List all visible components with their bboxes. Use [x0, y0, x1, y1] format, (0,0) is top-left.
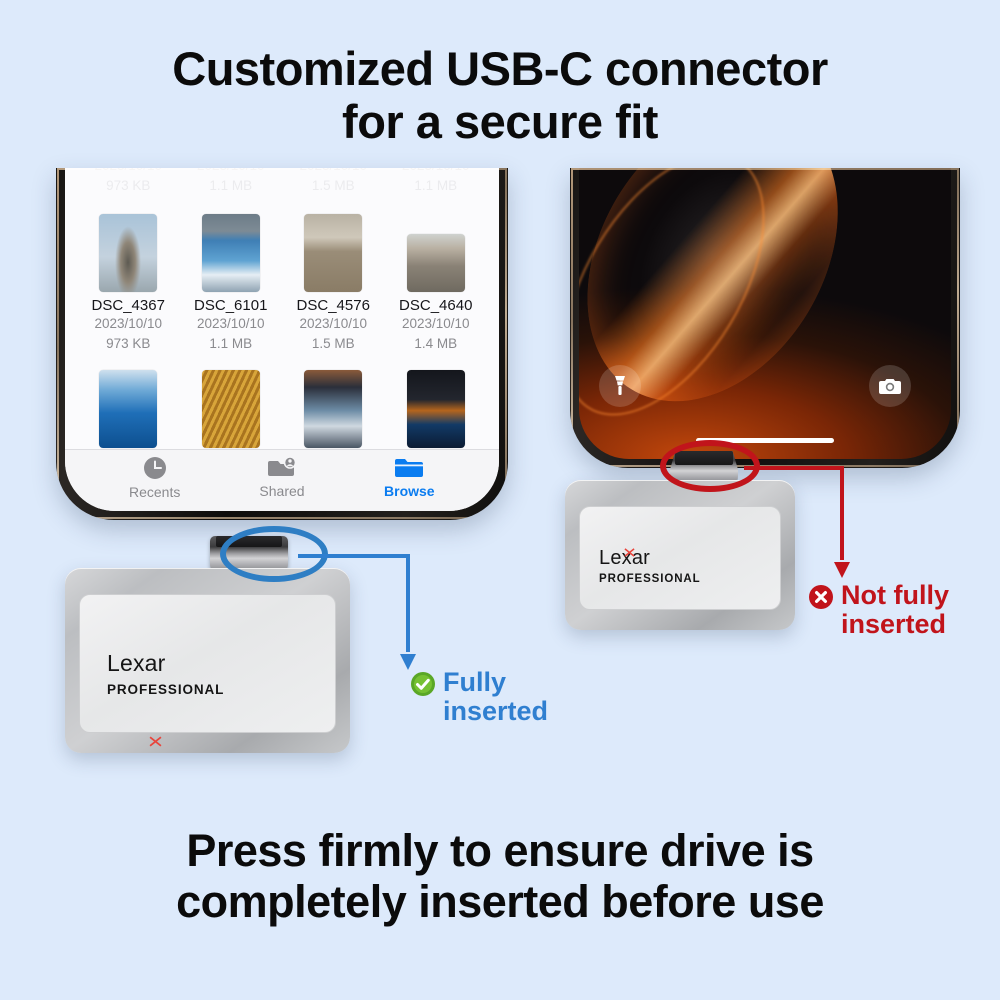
brand-name: Lexar [107, 652, 166, 675]
camera-icon [879, 377, 901, 395]
lexar-brand-right: Lexar PROFESSIONAL [599, 548, 701, 585]
callout-bad-text: Not fully inserted [841, 581, 949, 639]
brand-sub: PROFESSIONAL [599, 573, 701, 585]
headline-line-2: for a secure fit [0, 95, 1000, 148]
flashlight-icon [612, 375, 628, 397]
shared-folder-icon [268, 456, 296, 480]
file-cell[interactable]: 2023/10/10 1.1 MB [387, 168, 486, 195]
callout-good-text: Fully inserted [443, 668, 548, 726]
file-cell[interactable]: 2023/10/10 1.1 MB [182, 168, 281, 195]
file-cell[interactable]: DSC_4640 2023/10/10 1.4 MB [387, 210, 486, 353]
tab-recents[interactable]: Recents [110, 455, 200, 500]
callout-not-fully-inserted: Not fully inserted [808, 581, 949, 639]
file-thumbnail-minaret-tower-photo [99, 214, 157, 292]
brand-sub: PROFESSIONAL [107, 682, 224, 697]
file-thumbnail-blue-ocean-photo [99, 370, 157, 448]
folder-icon [395, 456, 423, 480]
file-thumbnail-night-lake-photo [304, 370, 362, 448]
footer-caption: Press firmly to ensure drive is complete… [0, 826, 1000, 928]
tab-shared[interactable]: Shared [237, 456, 327, 499]
lock-screen [579, 168, 951, 459]
lexar-x-accent-icon [149, 735, 162, 748]
headline-line-1: Customized USB-C connector [0, 42, 1000, 95]
page-title: Customized USB-C connector for a secure … [0, 42, 1000, 148]
file-cell[interactable] [182, 366, 281, 448]
file-cell[interactable] [387, 366, 486, 448]
phone-right-screen [579, 168, 951, 459]
camera-button[interactable] [869, 365, 911, 407]
files-grid-row-1: DSC_4367 2023/10/10 973 KB DSC_6101 2023… [65, 210, 499, 353]
fully-inserted-panel: 2023/10/10 973 KB 2023/10/10 1.1 MB 2023… [40, 168, 510, 768]
file-thumbnail-sailboats-harbor-photo [202, 214, 260, 292]
error-circle-icon [808, 584, 834, 610]
file-cell[interactable]: 2023/10/10 973 KB [79, 168, 178, 195]
file-cell[interactable]: DSC_4576 2023/10/10 1.5 MB [284, 210, 383, 353]
clock-icon [142, 455, 168, 481]
file-thumbnail-dark-coast-photo [407, 370, 465, 448]
phone-right [570, 168, 960, 468]
file-thumbnail-golden-field-photo [202, 370, 260, 448]
file-cell[interactable]: DSC_6101 2023/10/10 1.1 MB [182, 210, 281, 353]
lexar-brand-left: Lexar PROFESSIONAL [107, 652, 224, 697]
files-grid-faded: 2023/10/10 973 KB 2023/10/10 1.1 MB 2023… [65, 168, 499, 195]
caption-line-2: completely inserted before use [0, 877, 1000, 928]
lexar-x-accent-icon [624, 547, 635, 558]
files-tabbar: Recents Shared [65, 449, 499, 511]
callout-fully-inserted: Fully inserted [410, 668, 548, 726]
caption-line-1: Press firmly to ensure drive is [0, 826, 1000, 877]
tab-browse[interactable]: Browse [364, 456, 454, 499]
file-cell[interactable] [79, 366, 178, 448]
check-circle-icon [410, 671, 436, 697]
leader-line-bad [738, 456, 888, 596]
phone-left: 2023/10/10 973 KB 2023/10/10 1.1 MB 2023… [56, 168, 508, 520]
files-grid-row-2 [65, 366, 499, 448]
files-app: 2023/10/10 973 KB 2023/10/10 1.1 MB 2023… [65, 168, 499, 511]
file-thumbnail-rocky-landscape-photo [407, 234, 465, 292]
flashlight-button[interactable] [599, 365, 641, 407]
file-thumbnail-camels-desert-photo [304, 214, 362, 292]
phone-left-screen: 2023/10/10 973 KB 2023/10/10 1.1 MB 2023… [65, 168, 499, 511]
file-cell[interactable]: 2023/10/10 1.5 MB [284, 168, 383, 195]
file-cell[interactable]: DSC_4367 2023/10/10 973 KB [79, 210, 178, 353]
file-cell[interactable] [284, 366, 383, 448]
not-fully-inserted-panel: Lexar PROFESSIONAL Not fully inserted [540, 168, 980, 668]
